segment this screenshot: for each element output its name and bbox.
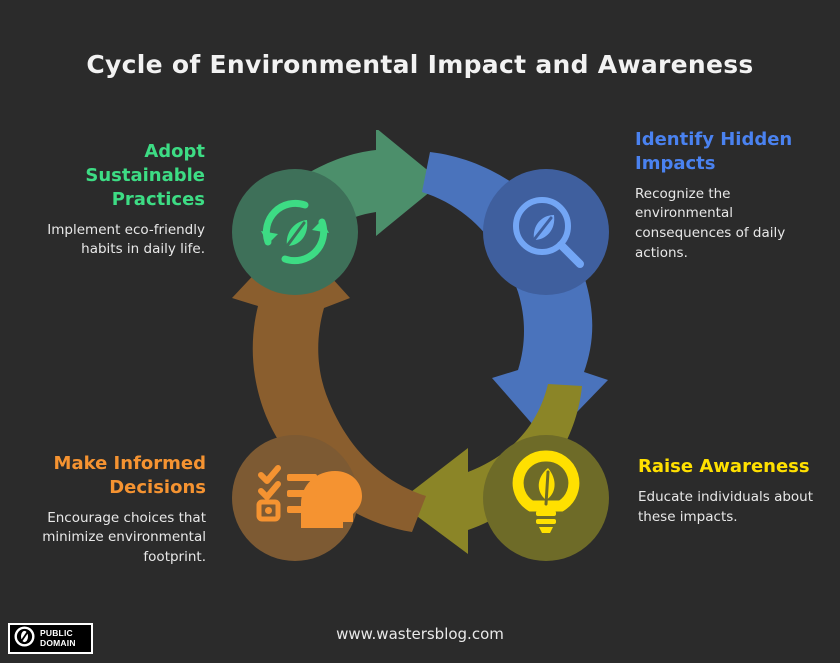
step-text-decisions: Make Informed Decisions Encourage choice… xyxy=(18,452,206,568)
step-description-raise: Educate individuals about these impacts. xyxy=(638,488,828,527)
step-text-adopt: Adopt Sustainable Practices Implement ec… xyxy=(20,140,205,260)
public-domain-line2: DOMAIN xyxy=(40,638,76,648)
step-heading-adopt: Adopt Sustainable Practices xyxy=(20,140,205,212)
infographic-canvas: Cycle of Environmental Impact and Awaren… xyxy=(0,0,840,663)
footer-url: www.wastersblog.com xyxy=(0,625,840,643)
step-text-raise: Raise Awareness Educate individuals abou… xyxy=(638,455,828,527)
public-domain-zero-icon xyxy=(13,625,36,652)
public-domain-badge: PUBLIC DOMAIN xyxy=(8,623,93,654)
node-adopt[interactable] xyxy=(232,169,358,295)
step-description-decisions: Encourage choices that minimize environm… xyxy=(18,509,206,568)
page-title: Cycle of Environmental Impact and Awaren… xyxy=(0,50,840,79)
step-description-adopt: Implement eco-friendly habits in daily l… xyxy=(20,221,205,260)
node-identify[interactable] xyxy=(483,169,609,295)
cycle-diagram xyxy=(180,130,660,590)
step-text-identify: Identify Hidden Impacts Recognize the en… xyxy=(635,128,825,263)
step-heading-decisions: Make Informed Decisions xyxy=(18,452,206,500)
step-heading-identify: Identify Hidden Impacts xyxy=(635,128,825,176)
public-domain-label: PUBLIC DOMAIN xyxy=(40,629,76,647)
node-raise[interactable] xyxy=(483,435,609,561)
step-description-identify: Recognize the environmental consequences… xyxy=(635,185,825,263)
step-heading-raise: Raise Awareness xyxy=(638,455,828,479)
